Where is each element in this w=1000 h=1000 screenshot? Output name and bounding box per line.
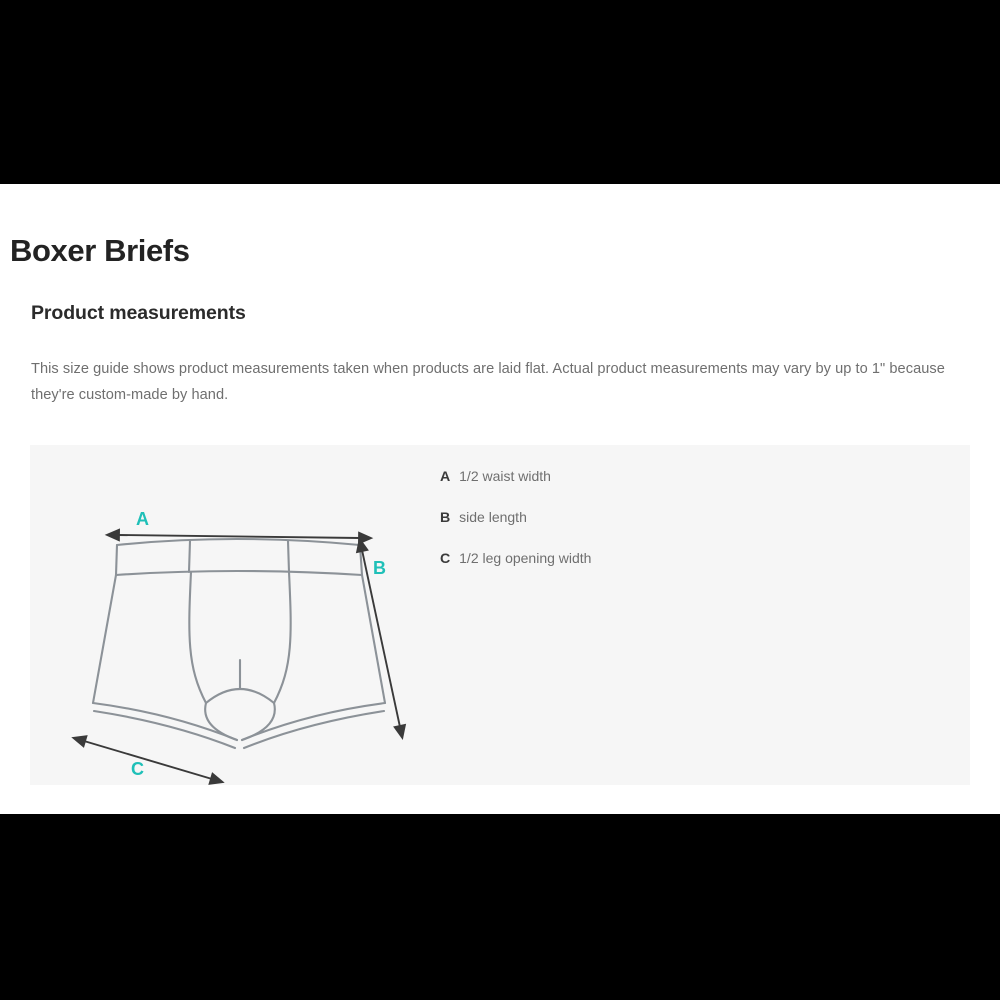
left-leg-hem-outer <box>93 703 237 740</box>
legend-item-c: C 1/2 leg opening width <box>440 551 860 566</box>
dimension-label-b: B <box>373 558 386 578</box>
waistband-bottom-edge <box>116 571 362 575</box>
legend-key-a: A <box>440 469 450 485</box>
letterbox-top <box>0 0 1000 184</box>
page-title: Boxer Briefs <box>10 234 190 268</box>
pouch-seam-right <box>274 572 291 703</box>
legend-item-b: B side length <box>440 510 860 525</box>
measurement-legend: A 1/2 waist width B side length C 1/2 le… <box>440 469 860 593</box>
waistband-seam-left <box>189 541 190 572</box>
waistband-top-edge <box>117 539 360 545</box>
left-side-seam <box>93 575 116 703</box>
dimension-arrow-c <box>84 741 212 779</box>
legend-key-b: B <box>440 510 450 526</box>
screenshot-root: Boxer Briefs Product measurements This s… <box>0 0 1000 1000</box>
legend-item-a: A 1/2 waist width <box>440 469 860 484</box>
crotch-gusset-arch <box>206 689 274 703</box>
right-leg-hem-outer <box>242 703 385 740</box>
letterbox-bottom <box>0 814 1000 1000</box>
measurement-diagram-panel: A B C A 1/2 waist width B side length C … <box>30 445 970 785</box>
waistband-seam-right <box>288 541 289 572</box>
legend-key-c: C <box>440 551 450 567</box>
legend-desc-a: 1/2 waist width <box>459 468 551 484</box>
legend-desc-c: 1/2 leg opening width <box>459 550 591 566</box>
size-guide-page: Boxer Briefs Product measurements This s… <box>0 184 1000 814</box>
legend-desc-b: side length <box>459 509 527 525</box>
pouch-seam-left <box>189 572 206 703</box>
boxer-briefs-diagram: A B C <box>30 445 450 785</box>
section-heading-product-measurements: Product measurements <box>31 302 246 325</box>
waistband-left-edge <box>116 545 117 575</box>
dimension-arrow-a <box>118 535 360 538</box>
intro-paragraph: This size guide shows product measuremen… <box>31 356 991 408</box>
dimension-label-c: C <box>131 759 144 779</box>
dimension-label-a: A <box>136 509 149 529</box>
dimension-labels-group: A B C <box>131 509 386 779</box>
waistband-right-edge <box>360 545 362 575</box>
garment-outline-group <box>93 539 385 748</box>
